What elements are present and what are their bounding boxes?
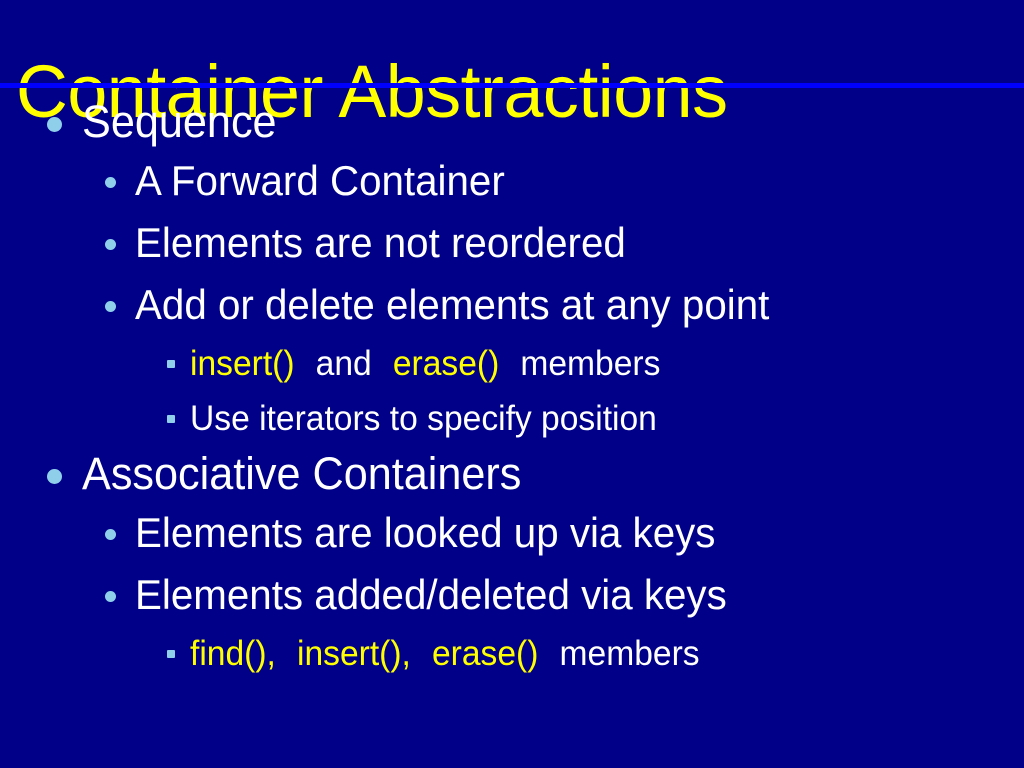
bullet-square-icon bbox=[167, 415, 175, 423]
list-item-label: insert() and erase() members bbox=[190, 336, 660, 391]
bullet-list: Sequence A Forward Container Elements ar… bbox=[0, 94, 1024, 681]
list-item-label: Add or delete elements at any point bbox=[135, 274, 769, 336]
conjunction-and: and bbox=[316, 344, 372, 383]
title-divider bbox=[0, 83, 1024, 88]
bullet-dot-icon bbox=[105, 529, 116, 540]
code-erase: erase() bbox=[432, 634, 538, 673]
slide: Container Abstractions Sequence A Forwar… bbox=[0, 0, 1024, 768]
code-erase: erase() bbox=[393, 344, 499, 383]
members-label: members bbox=[560, 634, 700, 673]
list-item-not-reordered: Elements are not reordered bbox=[0, 212, 1024, 274]
list-item-use-iterators: Use iterators to specify position bbox=[0, 391, 1024, 446]
list-item-sequence: Sequence bbox=[0, 94, 1024, 150]
list-item-find-insert-erase-members: find(), insert(), erase() members bbox=[0, 626, 1024, 681]
list-item-label: Elements are not reordered bbox=[135, 212, 626, 274]
list-item-label: Associative Containers bbox=[82, 446, 521, 502]
bullet-dot-icon bbox=[105, 177, 116, 188]
code-insert: insert(), bbox=[297, 634, 411, 673]
list-item-label: Elements added/deleted via keys bbox=[135, 564, 727, 626]
code-find: find(), bbox=[190, 634, 276, 673]
list-item-label: find(), insert(), erase() members bbox=[190, 626, 700, 681]
list-item-add-delete: Add or delete elements at any point bbox=[0, 274, 1024, 336]
bullet-dot-icon bbox=[105, 301, 116, 312]
list-item-looked-up-via-keys: Elements are looked up via keys bbox=[0, 502, 1024, 564]
bullet-square-icon bbox=[167, 360, 175, 368]
list-item-label: A Forward Container bbox=[135, 150, 505, 212]
list-item-forward-container: A Forward Container bbox=[0, 150, 1024, 212]
list-item-associative-containers: Associative Containers bbox=[0, 446, 1024, 502]
list-item-label: Elements are looked up via keys bbox=[135, 502, 715, 564]
list-item-label: Use iterators to specify position bbox=[190, 391, 657, 446]
bullet-dot-icon bbox=[47, 117, 62, 132]
members-label: members bbox=[520, 344, 660, 383]
bullet-dot-icon bbox=[105, 591, 116, 602]
bullet-dot-icon bbox=[47, 469, 62, 484]
code-insert: insert() bbox=[190, 344, 295, 383]
list-item-insert-erase-members: insert() and erase() members bbox=[0, 336, 1024, 391]
list-item-added-deleted-via-keys: Elements added/deleted via keys bbox=[0, 564, 1024, 626]
bullet-square-icon bbox=[167, 650, 175, 658]
list-item-label: Sequence bbox=[82, 94, 277, 150]
bullet-dot-icon bbox=[105, 239, 116, 250]
